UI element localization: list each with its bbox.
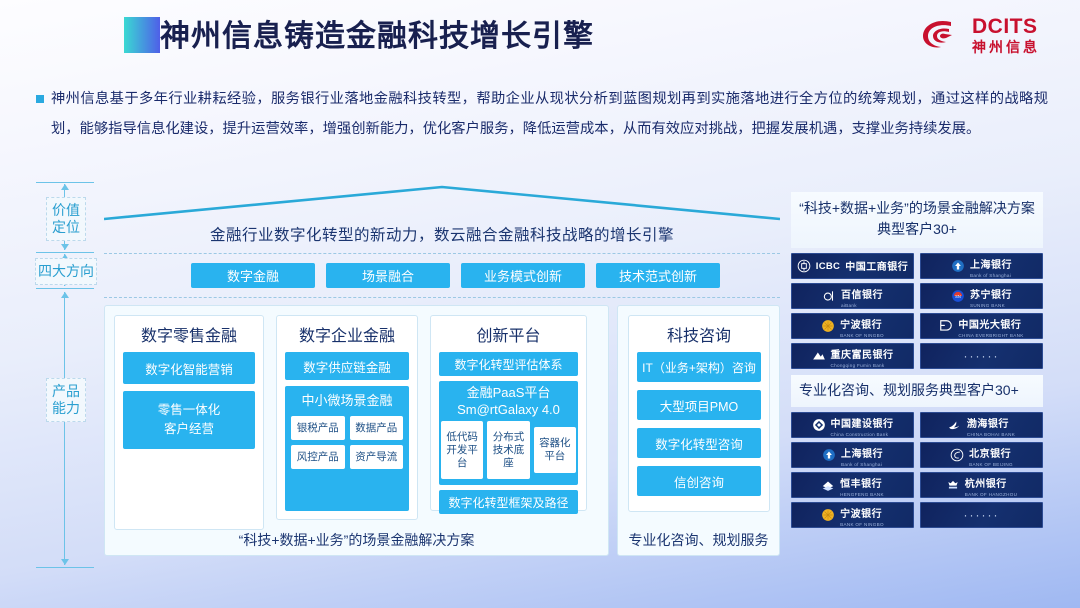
- direction-box-1[interactable]: 数字金融: [191, 263, 315, 288]
- customer-logo-item[interactable]: 百信银行aiBank: [791, 283, 914, 309]
- bank-name-block: 上海银行Bank of Shanghai: [841, 444, 883, 467]
- customer-logo-item[interactable]: 渤海银行CHINA BOHAI BANK: [920, 412, 1043, 438]
- more-dots-label: ······: [964, 508, 1000, 522]
- everbright-bank-logo: [939, 319, 953, 333]
- axis-label-value-positioning: 价值 定位: [46, 197, 86, 241]
- customer-logo-more[interactable]: ······: [920, 343, 1043, 369]
- item-dx-consulting[interactable]: 数字化转型咨询: [637, 428, 761, 458]
- bank-name-sub: SUNING BANK: [970, 303, 1012, 308]
- customer-logo-item[interactable]: 北京银行BANK OF BEIJING: [920, 442, 1043, 468]
- column-title: 数字零售金融: [123, 322, 255, 346]
- bank-name-block: 重庆富民银行Chongqing Fumin Bank: [831, 345, 894, 368]
- item-line2: Sm@rtGalaxy 4.0: [457, 401, 560, 418]
- bank-name-cn: 中国工商银行: [845, 262, 908, 273]
- bank-name-cn: 中国光大银行: [958, 320, 1021, 331]
- four-directions-row: 数字金融 场景融合 业务模式创新 技术范式创新: [191, 263, 720, 288]
- bank-name-cn: 宁波银行: [840, 509, 882, 520]
- axis-label-product-capability: 产品 能力: [46, 378, 86, 422]
- customer-logo-item[interactable]: ICBC中国工商银行: [791, 253, 914, 279]
- bank-name-cn: 苏宁银行: [970, 290, 1012, 301]
- direction-box-3[interactable]: 业务模式创新: [461, 263, 585, 288]
- item-xinchuang-consulting[interactable]: 信创咨询: [637, 466, 761, 496]
- chip-distributed-tech-base[interactable]: 分布式技术底座: [487, 421, 529, 479]
- more-dots-label: ······: [964, 349, 1000, 363]
- customer-logo-more[interactable]: ······: [920, 502, 1043, 528]
- column-title: 科技咨询: [637, 322, 761, 346]
- item-line1: 零售一体化: [158, 401, 221, 420]
- item-line2: 客户经营: [164, 420, 214, 439]
- bank-name-block: 恒丰银行HENGFENG BANK: [840, 474, 884, 497]
- axis-label-four-directions: 四大方向: [35, 258, 97, 285]
- svg-text:SN: SN: [955, 294, 961, 299]
- bank-name-sub: China Construction Bank: [831, 432, 894, 437]
- bank-name-cn: 上海银行: [970, 260, 1012, 271]
- suning-bank-logo: SN: [951, 289, 965, 303]
- item-it-consulting[interactable]: IT（业务+架构）咨询: [637, 352, 761, 382]
- bank-name-sub: BANK OF NINGBO: [840, 333, 884, 338]
- customer-logo-item[interactable]: 杭州银行BANK OF HANGZHOU: [920, 472, 1043, 498]
- logo-cn-text: 神州信息: [972, 40, 1040, 54]
- bank-name-sub: aiBank: [841, 303, 883, 308]
- axis-label-line2: 定位: [52, 219, 80, 235]
- bank-name-block: 渤海银行CHINA BOHAI BANK: [967, 414, 1015, 437]
- bank-name-cn: 百信银行: [841, 290, 883, 301]
- customer-logo-item[interactable]: SN苏宁银行SUNING BANK: [920, 283, 1043, 309]
- roof-chevron-icon: [104, 185, 780, 221]
- customer-logo-item[interactable]: 宁波银行BANK OF NINGBO: [791, 502, 914, 528]
- bank-name-en: ICBC: [816, 261, 840, 272]
- item-label: 中小微场景金融: [301, 391, 392, 410]
- bank-name-block: 苏宁银行SUNING BANK: [970, 285, 1012, 308]
- shanghai-bank-logo: [822, 448, 836, 462]
- customer-logo-grid-1: ICBC中国工商银行上海银行Bank of Shanghai百信银行aiBank…: [791, 248, 1043, 369]
- product-capability-area: “科技+数据+业务”的场景金融解决方案 专业化咨询、规划服务 数字零售金融 数字…: [104, 305, 780, 556]
- bank-name-block: 上海银行Bank of Shanghai: [970, 255, 1012, 278]
- bank-name-sub: BANK OF BEIJING: [969, 462, 1013, 467]
- bank-name-block: 杭州银行BANK OF HANGZHOU: [965, 474, 1018, 497]
- item-financial-paas-platform[interactable]: 金融PaaS平台 Sm@rtGalaxy 4.0 低代码开发平台 分布式技术底座…: [439, 381, 578, 485]
- item-digital-supply-chain-finance[interactable]: 数字供应链金融: [285, 352, 409, 380]
- dcits-swoosh-icon: [921, 17, 965, 53]
- chip-data-product[interactable]: 数据产品: [350, 416, 404, 440]
- ccb-logo: [812, 418, 826, 432]
- bank-name-cn: 宁波银行: [840, 320, 882, 331]
- hengfeng-bank-logo: [821, 478, 835, 492]
- bank-name-sub: CHINA EVERBRIGHT BANK: [958, 333, 1023, 338]
- column-title: 数字企业金融: [285, 322, 409, 346]
- bank-name-block: 百信银行aiBank: [841, 285, 883, 308]
- bank-name-sub: CHINA BOHAI BANK: [967, 432, 1015, 437]
- icbc-logo: [797, 259, 811, 273]
- bank-name-block: 宁波银行BANK OF NINGBO: [840, 315, 884, 338]
- item-sme-scenario-finance[interactable]: 中小微场景金融 银税产品 数据产品 风控产品 资产导流: [285, 386, 409, 511]
- bank-name-sub: HENGFENG BANK: [840, 492, 884, 497]
- page-title: 神州信息铸造金融科技增长引擎: [160, 11, 594, 55]
- bank-name-block: 宁波银行BANK OF NINGBO: [840, 504, 884, 527]
- customers-heading-2: 专业化咨询、规划服务典型客户30+: [791, 375, 1043, 407]
- chip-lowcode-dev-platform[interactable]: 低代码开发平台: [441, 421, 483, 479]
- axis-label-line2: 能力: [52, 400, 80, 416]
- bank-name-sub: Bank of Shanghai: [841, 462, 883, 467]
- item-large-project-pmo[interactable]: 大型项目PMO: [637, 390, 761, 420]
- customer-logo-item[interactable]: 上海银行Bank of Shanghai: [920, 253, 1043, 279]
- chip-asset-routing[interactable]: 资产导流: [350, 445, 404, 469]
- item-dx-framework-and-path[interactable]: 数字化转型框架及路径: [439, 490, 578, 514]
- page-header: 神州信息铸造金融科技增长引擎 DCITS 神州信息: [0, 0, 1080, 74]
- column-innovation-platform: 创新平台 数字化转型评估体系 金融PaaS平台 Sm@rtGalaxy 4.0 …: [430, 315, 587, 511]
- column-digital-retail-finance: 数字零售金融 数字化智能营销 零售一体化 客户经营: [114, 315, 264, 530]
- item-digital-smart-marketing[interactable]: 数字化智能营销: [123, 352, 255, 384]
- customer-logo-grid-2: 中国建设银行China Construction Bank渤海银行CHINA B…: [791, 407, 1043, 528]
- bank-name-cn: 中国建设银行: [831, 419, 894, 430]
- dcits-logo: DCITS 神州信息: [921, 16, 1040, 54]
- bank-name-sub: Bank of Shanghai: [970, 273, 1012, 278]
- direction-box-2[interactable]: 场景融合: [326, 263, 450, 288]
- logo-en-text: DCITS: [972, 16, 1040, 37]
- item-dx-assessment-system[interactable]: 数字化转型评估体系: [439, 352, 578, 376]
- customers-heading-1: “科技+数据+业务”的场景金融解决方案典型客户30+: [791, 192, 1043, 248]
- chip-container-platform[interactable]: 容器化平台: [534, 427, 576, 473]
- bank-name-cn: 重庆富民银行: [831, 350, 894, 361]
- bank-name-block: 中国工商银行: [845, 257, 908, 275]
- intro-paragraph: 神州信息基于多年行业耕耘经验，服务银行业落地金融科技转型，帮助企业从现状分析到蓝…: [36, 84, 1048, 144]
- item-line1: 金融PaaS平台: [467, 384, 551, 401]
- axis-label-line1: 价值: [52, 202, 80, 218]
- customers-panel: “科技+数据+业务”的场景金融解决方案典型客户30+ ICBC中国工商银行上海银…: [791, 192, 1043, 556]
- customer-logo-item[interactable]: 宁波银行BANK OF NINGBO: [791, 313, 914, 339]
- direction-box-4[interactable]: 技术范式创新: [596, 263, 720, 288]
- bank-name-block: 中国光大银行CHINA EVERBRIGHT BANK: [958, 315, 1023, 338]
- ningbo-bank-logo: [821, 319, 835, 333]
- bank-name-cn: 北京银行: [969, 449, 1011, 460]
- shanghai-bank-logo: [951, 259, 965, 273]
- customer-logo-item[interactable]: 上海银行Bank of Shanghai: [791, 442, 914, 468]
- framework-diagram: 金融行业数字化转型的新动力，数云融合金融科技战略的增长引擎 数字金融 场景融合 …: [104, 185, 780, 556]
- chip-risk-control-product[interactable]: 风控产品: [291, 445, 345, 469]
- left-axis: 价值 定位 四大方向 产品 能力: [32, 182, 98, 568]
- bank-name-cn: 上海银行: [841, 449, 883, 460]
- bullet-square-icon: [36, 95, 44, 103]
- tagline: 金融行业数字化转型的新动力，数云融合金融科技战略的增长引擎: [104, 223, 780, 245]
- customer-logo-item[interactable]: 恒丰银行HENGFENG BANK: [791, 472, 914, 498]
- bank-name-block: 北京银行BANK OF BEIJING: [969, 444, 1013, 467]
- bohai-bank-logo: [948, 418, 962, 432]
- bank-name-block: 中国建设银行China Construction Bank: [831, 414, 894, 437]
- bank-name-cn: 杭州银行: [965, 479, 1007, 490]
- customer-logo-item[interactable]: 中国建设银行China Construction Bank: [791, 412, 914, 438]
- solutions-caption: “科技+数据+业务”的场景金融解决方案: [105, 530, 608, 550]
- bank-name-sub: Chongqing Fumin Bank: [831, 363, 894, 368]
- bank-name-cn: 渤海银行: [967, 419, 1009, 430]
- hangzhou-bank-logo: [946, 478, 960, 492]
- chip-bank-tax-product[interactable]: 银税产品: [291, 416, 345, 440]
- column-technology-consulting: 科技咨询 IT（业务+架构）咨询 大型项目PMO 数字化转型咨询 信创咨询: [628, 315, 770, 512]
- bank-name-sub: BANK OF HANGZHOU: [965, 492, 1018, 497]
- axis-label-line1: 产品: [52, 383, 80, 399]
- bank-name-cn: 恒丰银行: [840, 479, 882, 490]
- ningbo-bank-logo: [821, 508, 835, 522]
- fumin-bank-logo: [812, 349, 826, 363]
- intro-text: 神州信息基于多年行业耕耘经验，服务银行业落地金融科技转型，帮助企业从现状分析到蓝…: [51, 84, 1048, 144]
- customer-logo-item[interactable]: 重庆富民银行Chongqing Fumin Bank: [791, 343, 914, 369]
- column-digital-enterprise-finance: 数字企业金融 数字供应链金融 中小微场景金融 银税产品 数据产品 风控产品 资产…: [276, 315, 418, 520]
- aibank-logo: [822, 289, 836, 303]
- item-retail-integrated-customer-ops[interactable]: 零售一体化 客户经营: [123, 391, 255, 449]
- column-title: 创新平台: [439, 322, 578, 346]
- title-accent-bar: [124, 17, 160, 53]
- consulting-caption: 专业化咨询、规划服务: [618, 530, 779, 550]
- customer-logo-item[interactable]: 中国光大银行CHINA EVERBRIGHT BANK: [920, 313, 1043, 339]
- bank-name-sub: BANK OF NINGBO: [840, 522, 884, 527]
- beijing-bank-logo: [950, 448, 964, 462]
